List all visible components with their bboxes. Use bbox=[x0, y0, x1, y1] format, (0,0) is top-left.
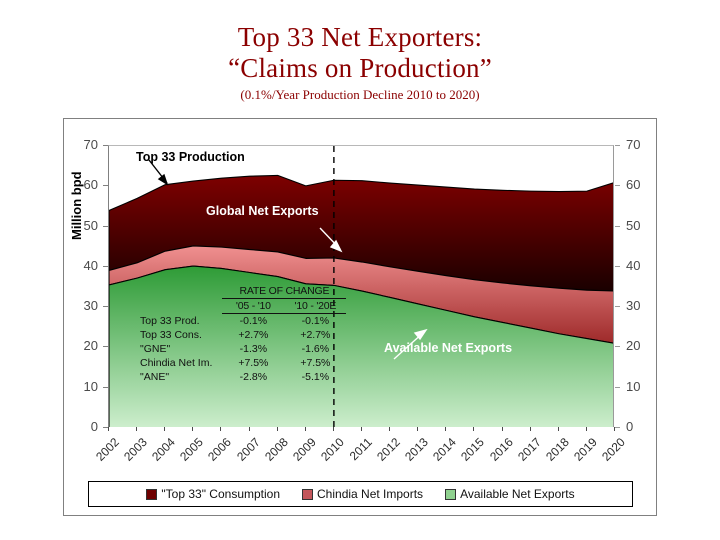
roc-row-v1: -2.8% bbox=[222, 370, 284, 384]
y-axis-right-tick-label: 50 bbox=[626, 218, 652, 233]
y-axis-tick-label: 60 bbox=[72, 177, 98, 192]
title-line-1: Top 33 Net Exporters: bbox=[0, 22, 720, 53]
y-axis-right-tick-mark bbox=[615, 226, 620, 227]
x-axis-tick-mark bbox=[192, 427, 193, 431]
y-axis-right-tick-mark bbox=[615, 185, 620, 186]
roc-row-label: "GNE" bbox=[140, 342, 222, 356]
chart-legend: "Top 33" Consumption Chindia Net Imports… bbox=[88, 481, 633, 507]
legend-item-top33-consumption: "Top 33" Consumption bbox=[146, 487, 280, 501]
x-axis-tick-mark bbox=[305, 427, 306, 431]
y-axis-tick-mark bbox=[103, 387, 108, 388]
x-axis-tick-mark bbox=[136, 427, 137, 431]
y-axis-tick-label: 0 bbox=[72, 419, 98, 434]
x-axis-tick-mark bbox=[277, 427, 278, 431]
roc-col-1: '05 - '10 bbox=[222, 299, 284, 314]
roc-row-v1: -0.1% bbox=[222, 314, 284, 329]
y-axis-tick-mark bbox=[103, 145, 108, 146]
y-axis-right-tick-mark bbox=[615, 387, 620, 388]
legend-label-available-net-exports: Available Net Exports bbox=[460, 487, 575, 501]
title-line-2: “Claims on Production” bbox=[0, 53, 720, 84]
legend-swatch-chindia-net-imports bbox=[302, 489, 313, 500]
x-axis-tick-mark bbox=[164, 427, 165, 431]
y-axis-right-tick-label: 0 bbox=[626, 419, 652, 434]
x-axis-tick-mark bbox=[445, 427, 446, 431]
x-axis-tick-mark bbox=[417, 427, 418, 431]
x-axis-tick-mark bbox=[558, 427, 559, 431]
x-axis-tick-mark bbox=[220, 427, 221, 431]
x-axis-tick-mark bbox=[333, 427, 334, 431]
legend-label-top33-consumption: "Top 33" Consumption bbox=[161, 487, 280, 501]
roc-row: Chindia Net Im. +7.5% +7.5% bbox=[140, 356, 346, 370]
roc-row-label: "ANE" bbox=[140, 370, 222, 384]
y-axis-tick-label: 50 bbox=[72, 218, 98, 233]
roc-row-label: Chindia Net Im. bbox=[140, 356, 222, 370]
roc-row-v2: -5.1% bbox=[284, 370, 346, 384]
chart-screenshot: Top 33 Net Exporters: “Claims on Product… bbox=[0, 0, 720, 540]
y-axis-tick-mark bbox=[103, 306, 108, 307]
roc-row-v2: +2.7% bbox=[284, 328, 346, 342]
y-axis-right-tick-label: 40 bbox=[626, 258, 652, 273]
y-axis-tick-label: 30 bbox=[72, 298, 98, 313]
roc-row: Top 33 Prod. -0.1% -0.1% bbox=[140, 314, 346, 329]
y-axis-tick-mark bbox=[103, 226, 108, 227]
y-axis-right-tick-mark bbox=[615, 306, 620, 307]
roc-row-v1: +2.7% bbox=[222, 328, 284, 342]
x-axis-tick-mark bbox=[361, 427, 362, 431]
roc-row-v2: +7.5% bbox=[284, 356, 346, 370]
annotation-available-net-exports: Available Net Exports bbox=[384, 341, 512, 355]
roc-row: "GNE" -1.3% -1.6% bbox=[140, 342, 346, 356]
y-axis-tick-mark bbox=[103, 266, 108, 267]
roc-row-v2: -1.6% bbox=[284, 342, 346, 356]
x-axis-tick-mark bbox=[530, 427, 531, 431]
x-axis-tick-mark bbox=[473, 427, 474, 431]
chart-subtitle: (0.1%/Year Production Decline 2010 to 20… bbox=[0, 87, 720, 103]
y-axis-tick-mark bbox=[103, 346, 108, 347]
roc-row-v1: -1.3% bbox=[222, 342, 284, 356]
y-axis-tick-label: 10 bbox=[72, 379, 98, 394]
rate-of-change-table: RATE OF CHANGE '05 - '10 '10 - '20E Top … bbox=[140, 284, 346, 384]
x-axis-tick-mark bbox=[586, 427, 587, 431]
legend-item-available-net-exports: Available Net Exports bbox=[445, 487, 575, 501]
y-axis-right-tick-label: 10 bbox=[626, 379, 652, 394]
y-axis-right-tick-mark bbox=[615, 266, 620, 267]
legend-swatch-available-net-exports bbox=[445, 489, 456, 500]
chart-title-block: Top 33 Net Exporters: “Claims on Product… bbox=[0, 22, 720, 103]
x-axis-tick-mark bbox=[502, 427, 503, 431]
y-axis-right-tick-mark bbox=[615, 427, 620, 428]
x-axis-tick-mark bbox=[389, 427, 390, 431]
y-axis-right-tick-label: 70 bbox=[626, 137, 652, 152]
roc-row-v2: -0.1% bbox=[284, 314, 346, 329]
y-axis-right-tick-mark bbox=[615, 346, 620, 347]
legend-item-chindia-net-imports: Chindia Net Imports bbox=[302, 487, 423, 501]
legend-swatch-top33-consumption bbox=[146, 489, 157, 500]
y-axis-right-tick-label: 60 bbox=[626, 177, 652, 192]
legend-label-chindia-net-imports: Chindia Net Imports bbox=[317, 487, 423, 501]
y-axis-right-tick-label: 20 bbox=[626, 338, 652, 353]
roc-row-v1: +7.5% bbox=[222, 356, 284, 370]
roc-row-label: Top 33 Cons. bbox=[140, 328, 222, 342]
y-axis-tick-label: 40 bbox=[72, 258, 98, 273]
y-axis-right-tick-label: 30 bbox=[626, 298, 652, 313]
annotation-top33-production: Top 33 Production bbox=[136, 150, 245, 164]
x-axis-tick-mark bbox=[614, 427, 615, 431]
y-axis-tick-label: 70 bbox=[72, 137, 98, 152]
y-axis-right-tick-mark bbox=[615, 145, 620, 146]
annotation-global-net-exports: Global Net Exports bbox=[206, 204, 319, 218]
y-axis-tick-label: 20 bbox=[72, 338, 98, 353]
roc-title: RATE OF CHANGE bbox=[222, 284, 346, 299]
roc-row: Top 33 Cons. +2.7% +2.7% bbox=[140, 328, 346, 342]
roc-row-label: Top 33 Prod. bbox=[140, 314, 222, 329]
roc-col-2: '10 - '20E bbox=[284, 299, 346, 314]
x-axis-tick-mark bbox=[108, 427, 109, 431]
roc-row: "ANE" -2.8% -5.1% bbox=[140, 370, 346, 384]
x-axis-tick-mark bbox=[249, 427, 250, 431]
y-axis-tick-mark bbox=[103, 185, 108, 186]
